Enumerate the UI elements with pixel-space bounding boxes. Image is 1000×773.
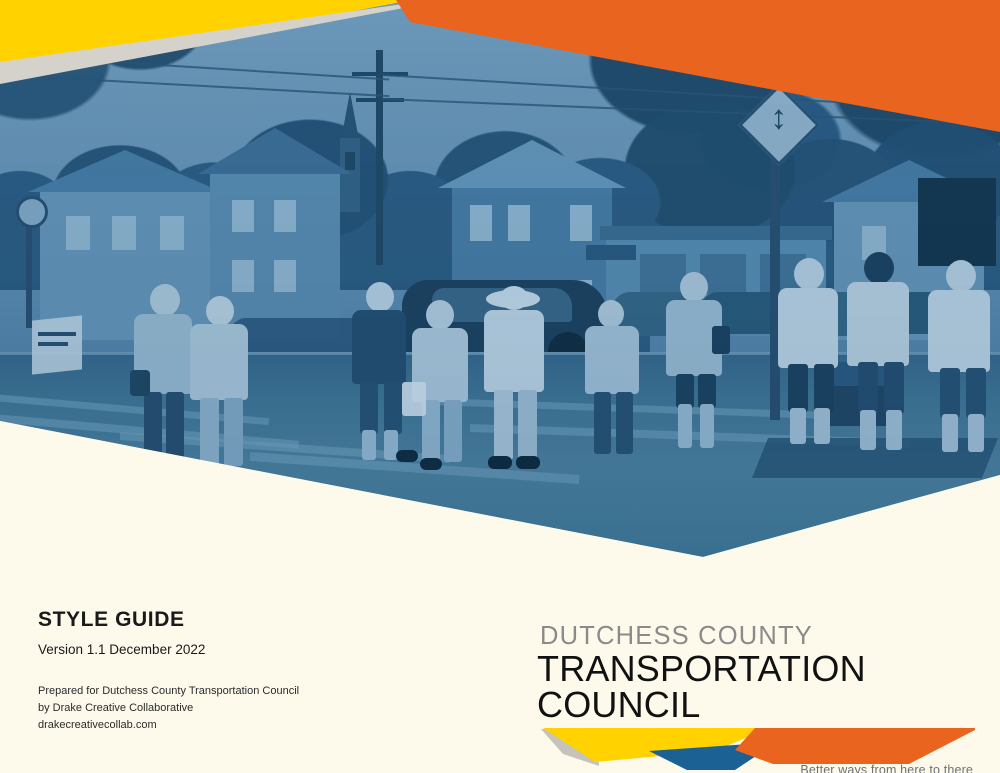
credit-line-2: by Drake Creative Collaborative: [38, 700, 458, 717]
logo-line-transportation-council: TRANSPORTATION COUNCIL: [537, 651, 977, 723]
credit-website[interactable]: drakecreativecollab.com: [38, 717, 458, 734]
page-title: STYLE GUIDE: [38, 608, 458, 632]
credits-block: Prepared for Dutchess County Transportat…: [38, 683, 458, 734]
style-guide-cover-page: ↕: [0, 0, 1000, 773]
title-block: STYLE GUIDE Version 1.1 December 2022 Pr…: [38, 608, 458, 734]
credit-line-1: Prepared for Dutchess County Transportat…: [38, 683, 458, 700]
logo-swoosh-graphic: Better ways from here to there: [537, 726, 977, 773]
logo-line-dutchess-county: DUTCHESS COUNTY: [540, 624, 977, 650]
version-label: Version 1.1 December 2022: [38, 642, 458, 657]
dctc-logo: DUTCHESS COUNTY TRANSPORTATION COUNCIL B…: [537, 624, 977, 732]
logo-tagline: Better ways from here to there: [800, 763, 973, 773]
swoosh-orange: [735, 728, 975, 764]
